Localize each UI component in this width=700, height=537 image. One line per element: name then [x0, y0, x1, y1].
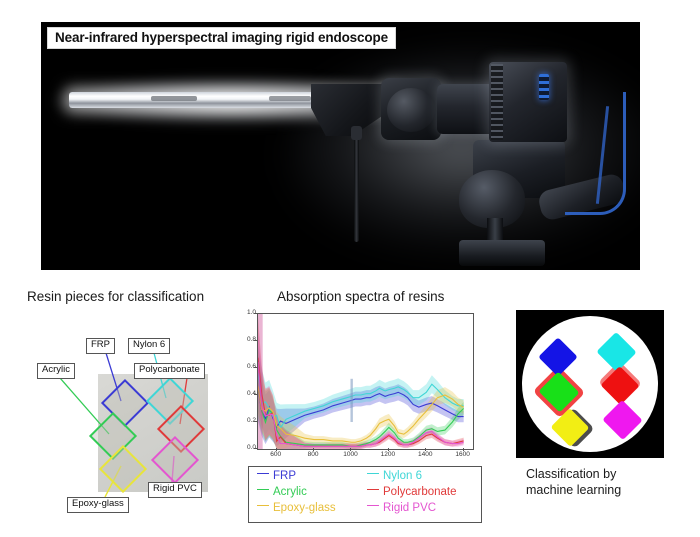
resin-tag-epoxy-glass: Epoxy-glass	[67, 497, 129, 513]
y-axis-tick-label: 1.0	[232, 309, 256, 316]
legend-entry-polycarbonate: Polycarbonate	[367, 486, 457, 498]
chart-legend: FRPNylon 6AcrylicPolycarbonateEpoxy-glas…	[248, 466, 482, 523]
spectra-onset-column	[258, 314, 263, 449]
chart-section-heading: Absorption spectra of resins	[277, 289, 444, 304]
light-guide-connector	[351, 126, 362, 140]
resin-tag-nylon6: Nylon 6	[128, 338, 170, 354]
legend-swatch-icon	[257, 473, 269, 474]
resin-section-heading: Resin pieces for classification	[27, 289, 204, 304]
blue-cable	[565, 92, 626, 215]
legend-swatch-icon	[367, 505, 379, 506]
coupler-ring	[387, 88, 435, 132]
y-axis-tick-mark	[254, 340, 257, 341]
legend-label: Polycarbonate	[383, 486, 457, 498]
absorption-spectra-chart: 0.00.20.40.60.81.06008001000120014001600…	[238, 308, 496, 533]
legend-entry-frp: FRP	[257, 470, 296, 482]
legend-entry-rigid-pvc: Rigid PVC	[367, 502, 436, 514]
y-axis-tick-label: 0.8	[232, 336, 256, 343]
classification-caption-line2: machine learning	[526, 482, 676, 498]
x-axis-tick-mark	[463, 448, 464, 451]
classification-caption: Classification by machine learning	[526, 466, 676, 498]
y-axis-tick-mark	[254, 367, 257, 368]
legend-entry-epoxy-glass: Epoxy-glass	[257, 502, 336, 514]
y-axis-tick-label: 0.6	[232, 363, 256, 370]
y-axis-tick-mark	[254, 448, 257, 449]
camera-heat-fins	[491, 64, 503, 140]
classification-caption-line1: Classification by	[526, 466, 676, 482]
y-axis-tick-mark	[254, 421, 257, 422]
spectra-detector-seam	[350, 379, 352, 422]
x-axis-tick-label: 1200	[375, 451, 401, 458]
light-guide-cable	[354, 132, 359, 242]
shaft-marking-2	[269, 96, 311, 101]
resin-tag-rigid-pvc: Rigid PVC	[148, 482, 202, 498]
photo-title-banner: Near-infrared hyperspectral imaging rigi…	[47, 27, 396, 49]
y-axis-tick-mark	[254, 394, 257, 395]
resin-pieces-diagram: FRP Nylon 6 Acrylic Polycarbonate Epoxy-…	[20, 306, 245, 531]
camera-led-indicator	[539, 74, 549, 100]
y-axis-tick-label: 0.2	[232, 417, 256, 424]
x-axis-tick-label: 1400	[412, 451, 438, 458]
x-axis-tick-mark	[350, 448, 351, 451]
x-axis-tick-mark	[276, 448, 277, 451]
legend-label: Nylon 6	[383, 470, 422, 482]
x-axis-tick-label: 800	[300, 451, 326, 458]
tripod-base	[459, 240, 545, 266]
legend-label: Rigid PVC	[383, 502, 436, 514]
endoscope-photo	[41, 22, 640, 270]
legend-label: Acrylic	[273, 486, 307, 498]
x-axis-tick-mark	[313, 448, 314, 451]
shaft-marking-1	[151, 96, 197, 101]
plot-area	[257, 313, 474, 450]
legend-label: FRP	[273, 470, 296, 482]
legend-label: Epoxy-glass	[273, 502, 336, 514]
y-axis-tick-mark	[254, 313, 257, 314]
legend-swatch-icon	[367, 473, 379, 474]
y-axis-tick-label: 0.0	[232, 444, 256, 451]
x-axis-tick-label: 1600	[450, 451, 476, 458]
legend-entry-acrylic: Acrylic	[257, 486, 307, 498]
x-axis-tick-mark	[425, 448, 426, 451]
x-axis-tick-mark	[388, 448, 389, 451]
y-axis-tick-label: 0.4	[232, 390, 256, 397]
classification-result: Classification by machine learning	[516, 310, 676, 520]
spectra-plot-svg	[258, 314, 473, 449]
classification-image	[516, 310, 664, 458]
resin-tag-polycarbonate: Polycarbonate	[134, 363, 205, 379]
legend-swatch-icon	[257, 505, 269, 506]
legend-entry-nylon-6: Nylon 6	[367, 470, 422, 482]
resin-tag-acrylic: Acrylic	[37, 363, 75, 379]
legend-swatch-icon	[257, 489, 269, 490]
resin-tag-frp: FRP	[86, 338, 115, 354]
figure-root: Near-infrared hyperspectral imaging rigi…	[0, 0, 700, 537]
legend-swatch-icon	[367, 489, 379, 490]
x-axis-tick-label: 600	[263, 451, 289, 458]
x-axis-tick-label: 1000	[337, 451, 363, 458]
